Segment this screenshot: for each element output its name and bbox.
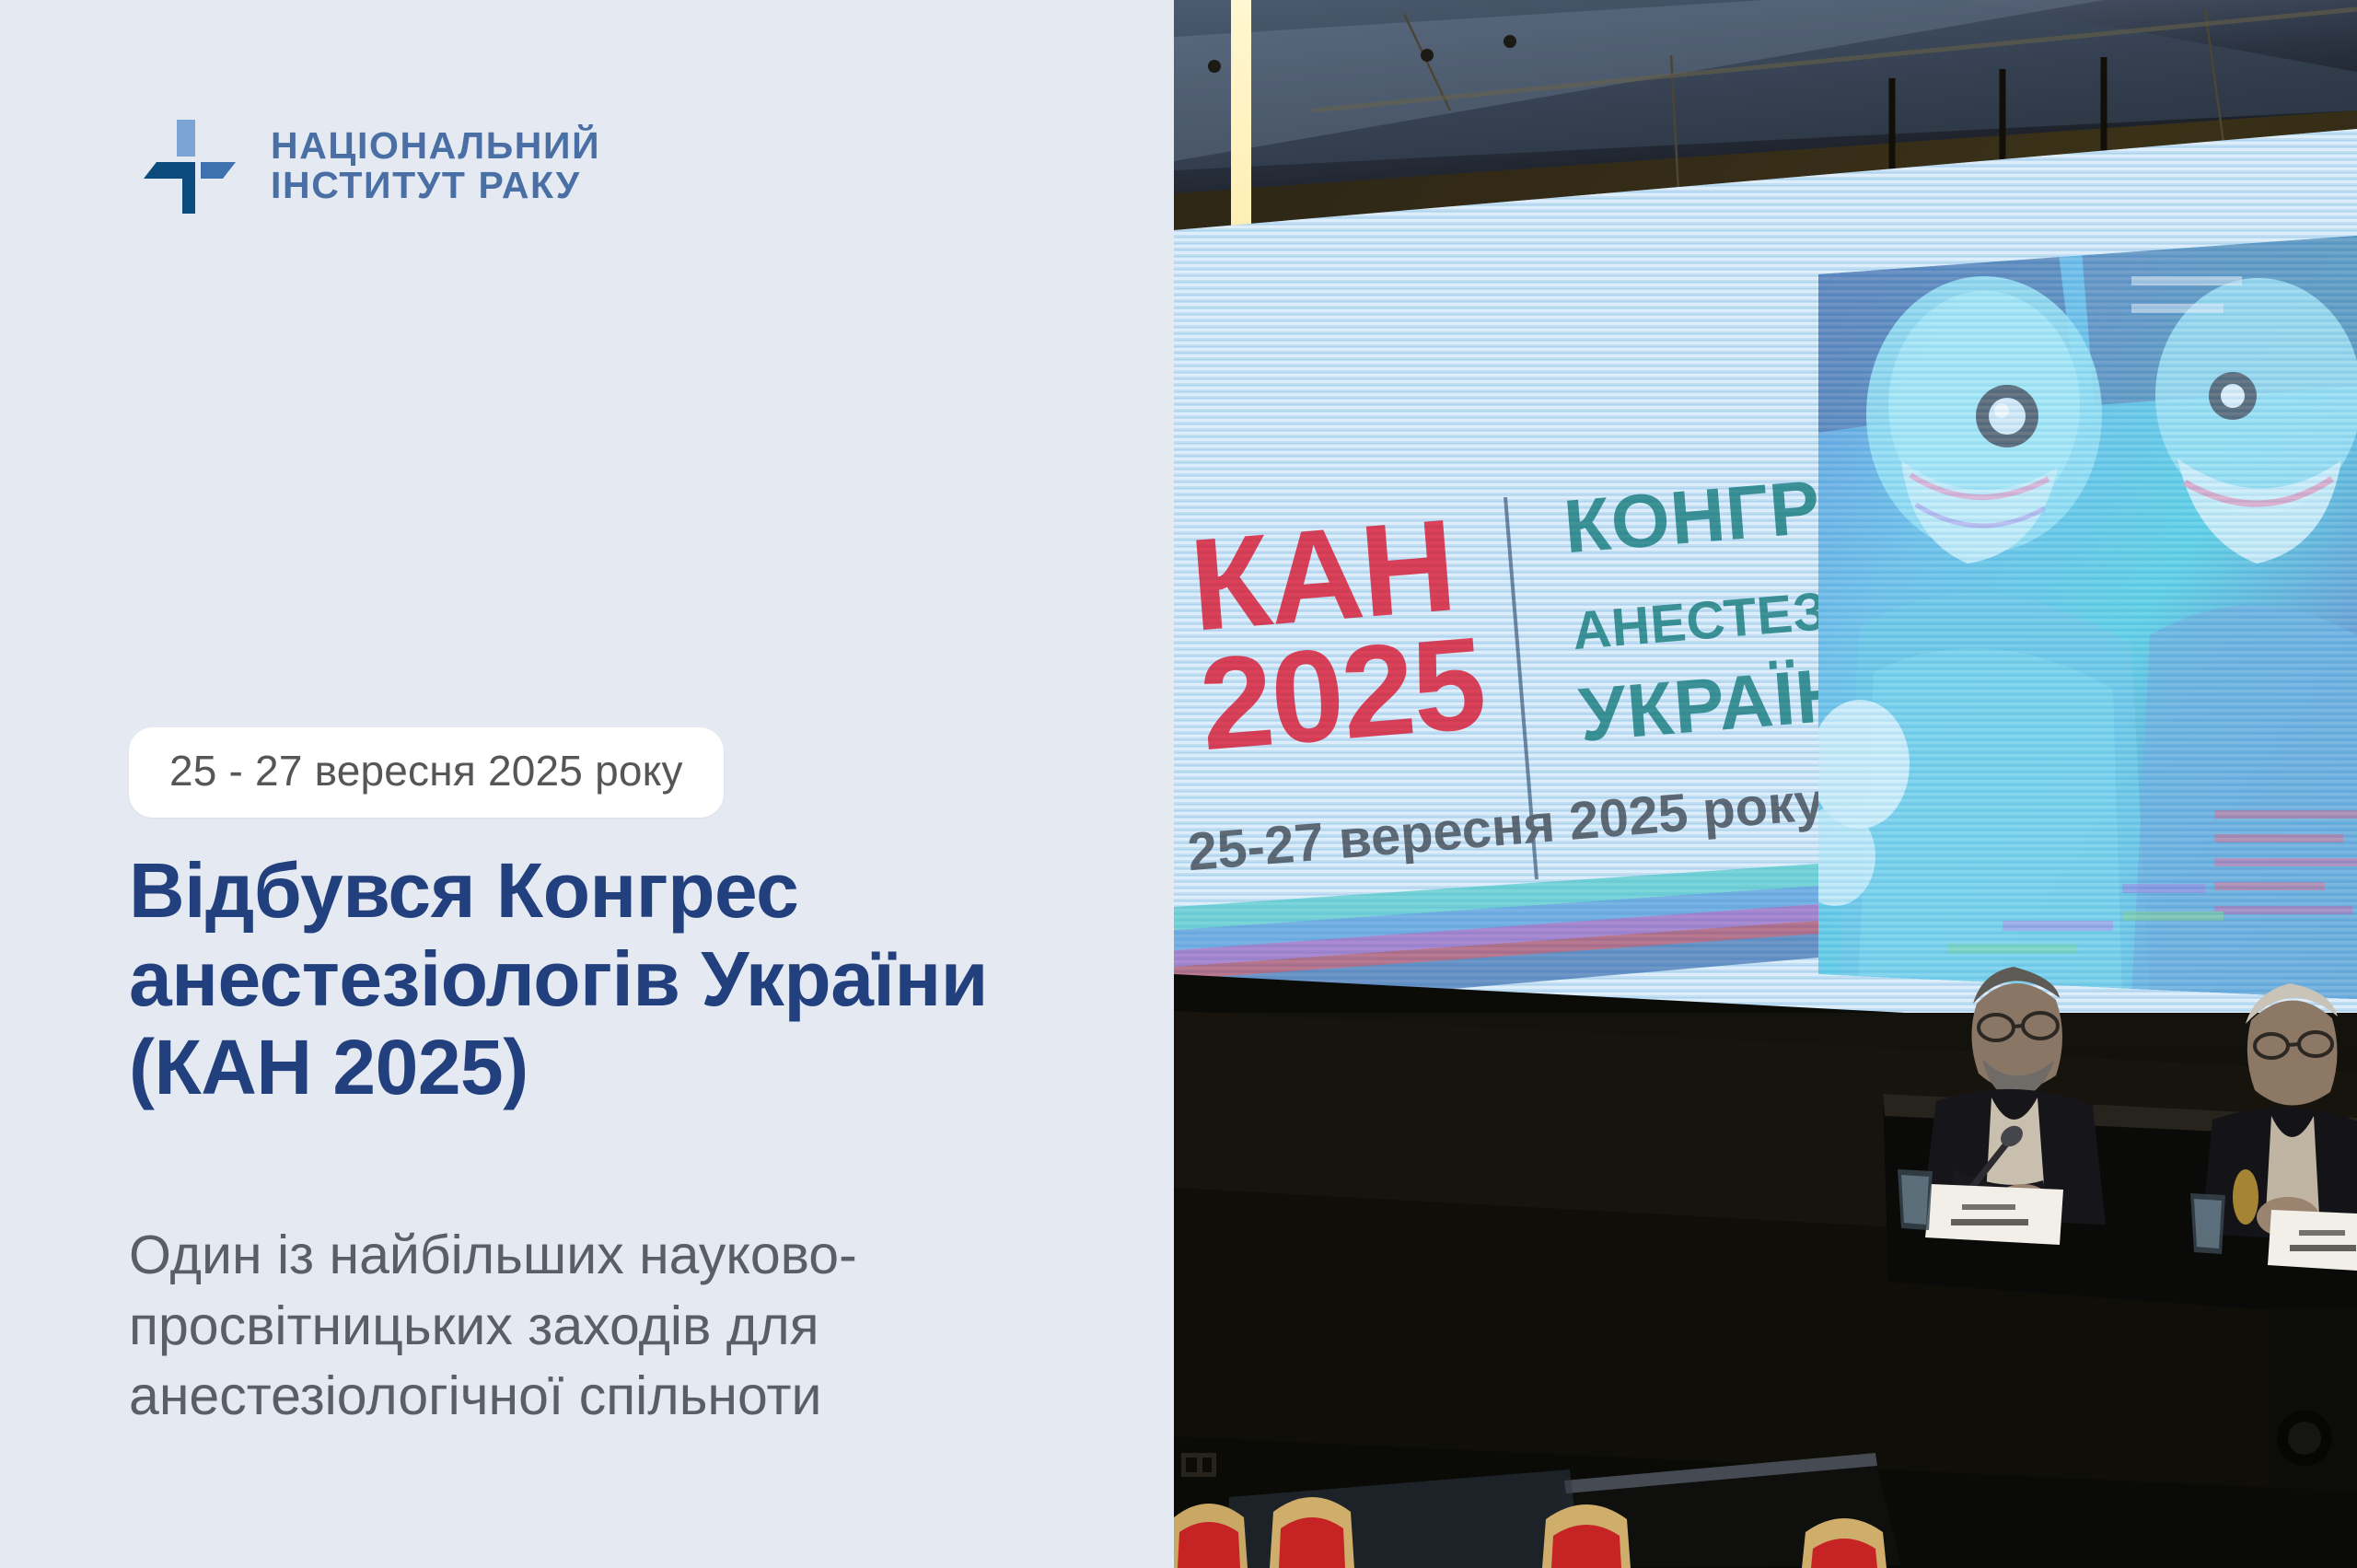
name-card-left (1925, 1184, 2063, 1245)
article-hero-card: НАЦІОНАЛЬНИЙ ІНСТИТУТ РАКУ 25 - 27 верес… (0, 0, 2357, 1568)
water-glass-right (2190, 1193, 2225, 1254)
name-card-right (2268, 1210, 2357, 1271)
article-headline: Відбувся Конгрес анестезіологів України … (129, 847, 1105, 1111)
event-date-text: 25 - 27 вересня 2025 року (169, 747, 683, 795)
institute-logo-wordmark: НАЦІОНАЛЬНИЙ ІНСТИТУТ РАКУ (271, 126, 600, 206)
wall-switch-plate (1181, 1453, 1216, 1477)
text-panel: НАЦІОНАЛЬНИЙ ІНСТИТУТ РАКУ 25 - 27 верес… (0, 0, 1174, 1568)
conference-photo: У країнська А соціація А нестезіологів т… (1174, 0, 2357, 1568)
article-subheadline: Один із найбільших науково-просвітницьки… (129, 1220, 1096, 1432)
bottle (2233, 1169, 2258, 1225)
institute-logo[interactable]: НАЦІОНАЛЬНИЙ ІНСТИТУТ РАКУ (136, 114, 600, 217)
cross-logo-icon (136, 114, 239, 217)
conference-photo-svg: У країнська А соціація А нестезіологів т… (1174, 0, 2357, 1568)
event-date-badge: 25 - 27 вересня 2025 року (129, 727, 724, 818)
logo-line-1: НАЦІОНАЛЬНИЙ (271, 126, 600, 166)
water-glass-left (1898, 1169, 1933, 1230)
led-screen: У країнська А соціація А нестезіологів т… (1174, 92, 2357, 1068)
logo-line-2: ІНСТИТУТ РАКУ (271, 166, 600, 205)
